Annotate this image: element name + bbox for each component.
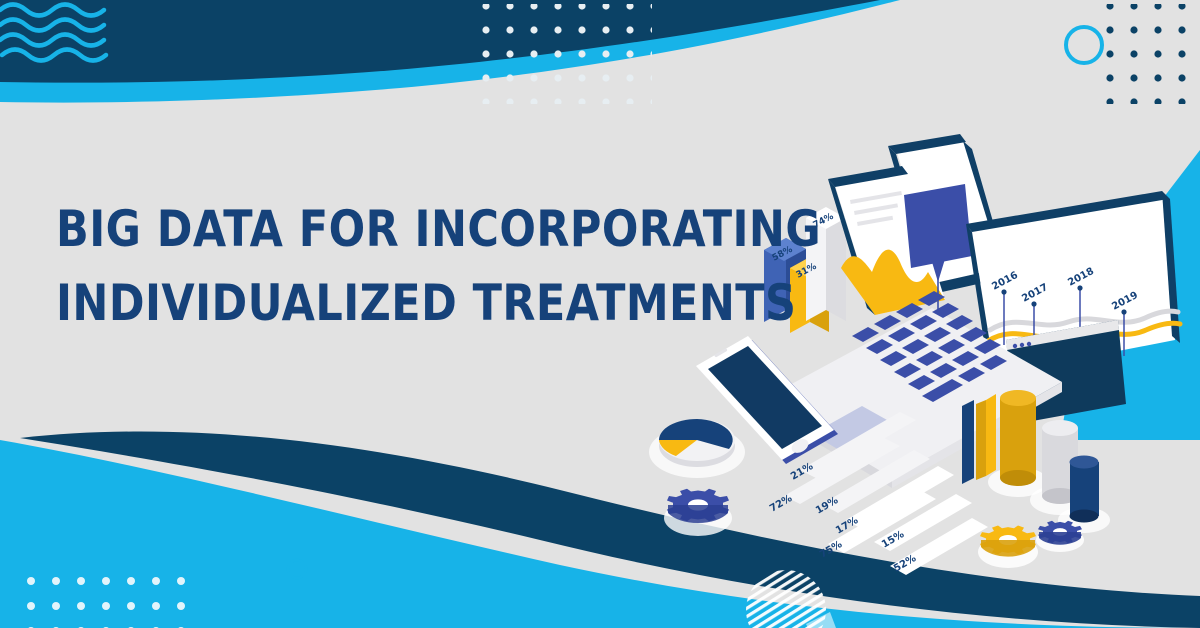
bar-label-19: 19% [814,495,840,516]
pie-chart-3d [649,419,745,478]
isometric-illustration: 58% 31% 74% [0,0,1200,628]
stack-yellow [962,394,996,484]
bar-label-21: 21% [789,461,815,482]
gear-yellow-icon [978,525,1038,568]
gear-blue-icon [664,489,732,536]
bar-label-72: 72% [768,493,794,514]
banner-root: 58% 31% 74% [0,0,1200,628]
